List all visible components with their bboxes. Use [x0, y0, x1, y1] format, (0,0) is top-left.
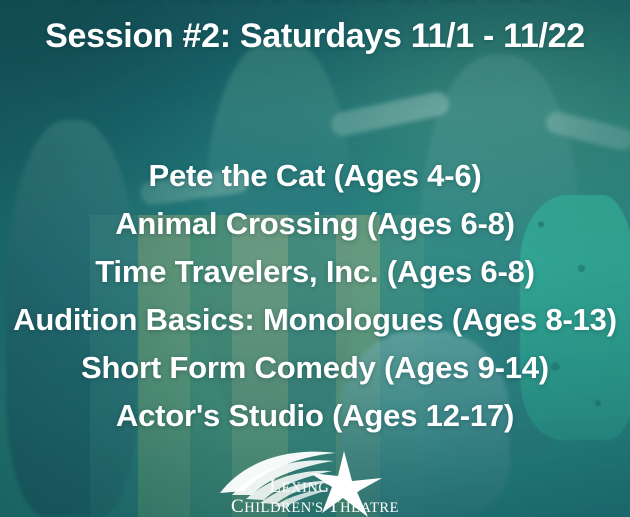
logo-childrens-rest: HILDREN	[244, 500, 312, 516]
logo-wordmark: LEXINGTON CHILDREN'S THEATRE	[210, 477, 420, 516]
logo-lexington-rest: EXINGTON	[282, 480, 361, 496]
class-list-item: Pete the Cat (Ages 4-6)	[148, 152, 481, 200]
logo-l-cap: L	[269, 476, 281, 497]
class-list-item: Animal Crossing (Ages 6-8)	[115, 200, 515, 248]
class-list-item: Time Travelers, Inc. (Ages 6-8)	[95, 248, 535, 296]
logo-t-cap: T	[328, 496, 340, 517]
session-subtitle: Session #2: Saturdays 11/1 - 11/22	[0, 18, 630, 55]
class-list: Pete the Cat (Ages 4-6) Animal Crossing …	[0, 152, 630, 440]
logo-apostrophe-s: 'S	[312, 500, 328, 516]
class-list-item: Audition Basics: Monologues (Ages 8-13)	[13, 296, 617, 344]
logo-line-childrens-theatre: CHILDREN'S THEATRE	[210, 497, 420, 516]
page-title: Fall Theatre School at LCT	[0, 0, 630, 7]
logo-line-lexington: LEXINGTON	[210, 477, 420, 496]
class-list-item: Short Form Comedy (Ages 9-14)	[81, 344, 549, 392]
logo-c-cap: C	[231, 496, 244, 517]
class-list-item: Actor's Studio (Ages 12-17)	[116, 392, 514, 440]
logo-theatre-rest: HEATRE	[340, 500, 399, 516]
organization-logo: LEXINGTON CHILDREN'S THEATRE	[210, 445, 420, 517]
poster-content: Fall Theatre School at LCT Session #2: S…	[0, 0, 630, 517]
poster-canvas: Fall Theatre School at LCT Session #2: S…	[0, 0, 630, 517]
